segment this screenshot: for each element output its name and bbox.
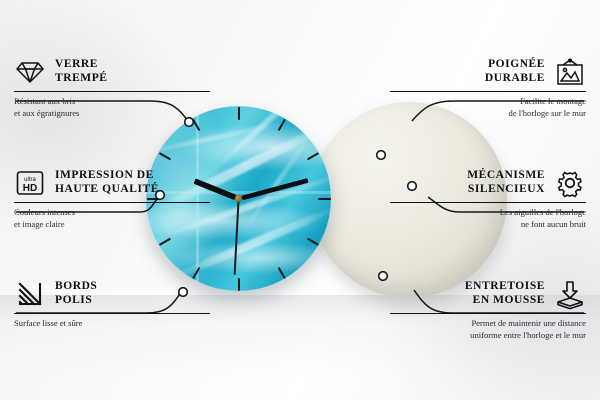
feature-bords-polis: BORDS POLIS Surface lisse et sûre: [14, 279, 210, 330]
feature-sub-line1: Les aiguilles de l'horloge: [390, 207, 586, 218]
feature-poignee-durable: POIGNÉE DURABLE Facilite le montage de l…: [390, 57, 586, 119]
gear-icon: [554, 168, 586, 198]
feature-title-line2: TREMPÉ: [55, 72, 108, 86]
ultra-hd-icon: ultra HD: [14, 168, 46, 198]
feature-sub-line1: Couleurs intenses: [14, 207, 210, 218]
feature-divider: [390, 202, 586, 203]
wall-hanger-icon: [554, 57, 586, 87]
feature-title-line2: SILENCIEUX: [467, 183, 545, 197]
feature-title-line1: VERRE: [55, 58, 108, 72]
feature-sub-line2: ne font aucun bruit: [390, 219, 586, 230]
feature-mecanisme-silencieux: MÉCANISME SILENCIEUX Les aiguilles de l'…: [390, 168, 586, 230]
feature-sub-line1: Permet de maintenir une distance: [390, 318, 586, 329]
feature-divider: [14, 91, 210, 92]
feature-sub-line1: Facilite le montage: [390, 96, 586, 107]
feature-title-line1: BORDS: [55, 280, 97, 294]
feature-title-line2: DURABLE: [485, 72, 545, 86]
svg-text:HD: HD: [23, 183, 37, 194]
feature-title-line2: EN MOUSSE: [465, 294, 545, 308]
feature-sub-line1: Surface lisse et sûre: [14, 318, 210, 329]
polished-edges-icon: [14, 279, 46, 309]
feature-entretoise-en-mousse: ENTRETOISE EN MOUSSE Permet de maintenir…: [390, 279, 586, 341]
feature-verre-trempe: VERRE TREMPÉ Résistant aux bris et aux é…: [14, 57, 210, 119]
feature-sub-line2: de l'horloge sur le mur: [390, 108, 586, 119]
feature-title-line1: IMPRESSION DE: [55, 169, 159, 183]
feature-title-line1: MÉCANISME: [467, 169, 545, 183]
feature-divider: [390, 313, 586, 314]
feature-sub-line1: Résistant aux bris: [14, 96, 210, 107]
foam-spacer-icon: [554, 279, 586, 309]
feature-title-line2: POLIS: [55, 294, 97, 308]
diamond-icon: [14, 57, 46, 87]
feature-sub-line2: et image claire: [14, 219, 210, 230]
infographic-stage: VERRE TREMPÉ Résistant aux bris et aux é…: [0, 0, 600, 400]
feature-impression-haute-qualite: ultra HD IMPRESSION DE HAUTE QUALITÉ Cou…: [14, 168, 210, 230]
feature-sub-line2: et aux égratignures: [14, 108, 210, 119]
feature-title-line1: ENTRETOISE: [465, 280, 545, 294]
feature-title-line1: POIGNÉE: [485, 58, 545, 72]
connector-dot-poignee: [377, 151, 386, 160]
feature-divider: [14, 202, 210, 203]
feature-title-line2: HAUTE QUALITÉ: [55, 183, 159, 197]
connector-dot-entretoise: [379, 272, 388, 281]
feature-sub-line2: uniforme entre l'horloge et le mur: [390, 330, 586, 341]
feature-divider: [14, 313, 210, 314]
feature-divider: [390, 91, 586, 92]
